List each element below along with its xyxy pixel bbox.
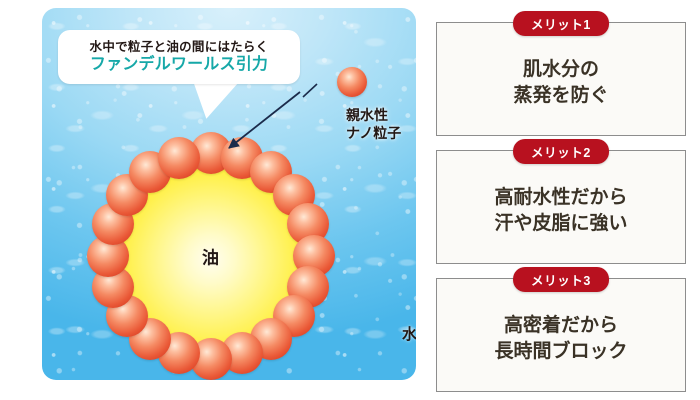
merit-1-line2: 蒸発を防ぐ (513, 83, 608, 109)
merit-box-3: メリット3 高密着だから 長時間ブロック (436, 278, 686, 392)
emulsion-diagram: 油 (88, 133, 333, 378)
nano-particle-label-line2: ナノ粒子 (346, 124, 401, 142)
illustration-panel: 水中で粒子と油の間にはたらく ファンデルワールス引力 油 親水性 ナノ粒子 水 (42, 8, 416, 380)
nano-particle (158, 137, 200, 179)
infographic-root: 水中で粒子と油の間にはたらく ファンデルワールス引力 油 親水性 ナノ粒子 水 (0, 0, 700, 400)
nano-particle-label-line1: 親水性 (346, 106, 401, 124)
merit-3-line1: 高密着だから (504, 313, 618, 339)
merit-2-line2: 汗や皮脂に強い (494, 211, 627, 237)
speech-bubble-line1: 水中で粒子と油の間にはたらく (90, 40, 269, 54)
merit-body-2: 高耐水性だから 汗や皮脂に強い (437, 151, 685, 263)
merit-body-3: 高密着だから 長時間ブロック (437, 279, 685, 391)
merit-box-2: メリット2 高耐水性だから 汗や皮脂に強い (436, 150, 686, 264)
merit-3-line2: 長時間ブロック (494, 339, 627, 365)
merit-body-1: 肌水分の 蒸発を防ぐ (437, 23, 685, 135)
nano-particle-label: 親水性 ナノ粒子 (346, 106, 401, 143)
merit-2-line1: 高耐水性だから (494, 185, 627, 211)
nano-particle-sample (337, 67, 367, 97)
speech-bubble: 水中で粒子と油の間にはたらく ファンデルワールス引力 (58, 30, 300, 84)
water-label: 水 (402, 323, 416, 344)
oil-label: 油 (116, 243, 305, 268)
speech-bubble-line2: ファンデルワールス引力 (90, 55, 268, 74)
merit-1-line1: 肌水分の (523, 57, 599, 83)
merit-box-1: メリット1 肌水分の 蒸発を防ぐ (436, 22, 686, 136)
